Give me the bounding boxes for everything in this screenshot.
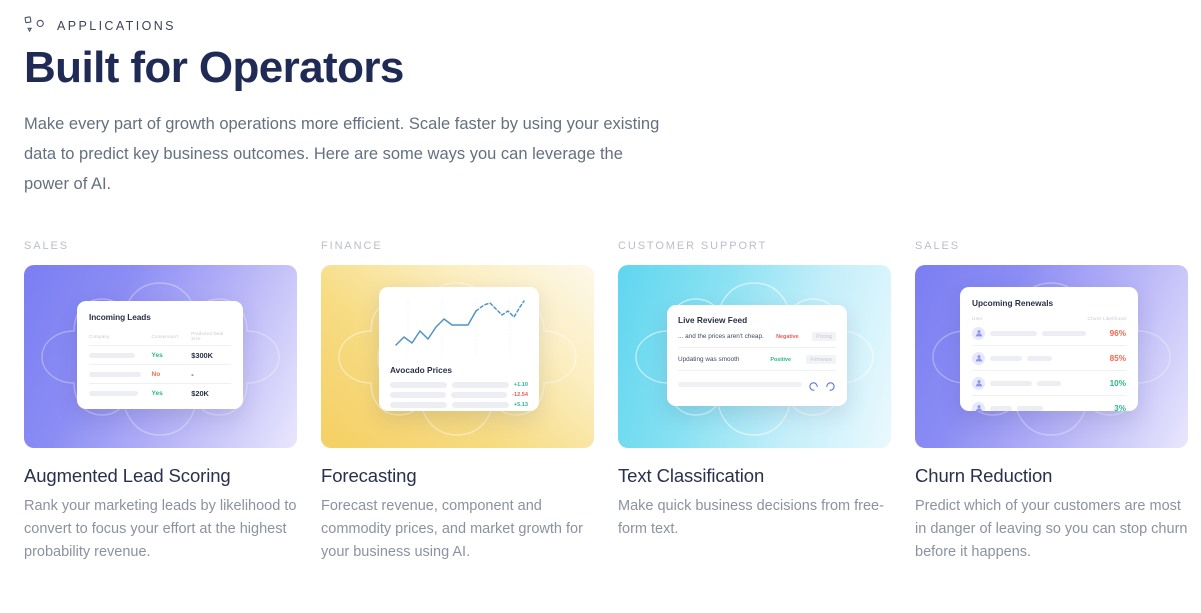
list-item: -12.54 <box>390 392 528 398</box>
topic-badge: Pricing <box>812 332 836 341</box>
churn-value: 85% <box>1110 354 1126 363</box>
company-placeholder <box>89 346 151 365</box>
card-title: Text Classification <box>618 465 891 487</box>
page-title: Built for Operators <box>24 43 1177 92</box>
card-title: Forecasting <box>321 465 594 487</box>
deal-value: - <box>191 365 231 384</box>
avatar <box>972 327 985 340</box>
mock-live-review-feed: Live Review Feed ... and the prices aren… <box>667 305 847 406</box>
card-description: Make quick business decisions from free-… <box>618 495 891 541</box>
page-intro: Make every part of growth operations mor… <box>24 109 664 199</box>
topic-badge: Firmware <box>806 355 836 364</box>
churn-value: 3% <box>1114 404 1126 412</box>
col-user: User <box>972 316 983 321</box>
table-row: Yes $20K <box>89 384 231 403</box>
card-title: Churn Reduction <box>915 465 1188 487</box>
mock-title: Avocado Prices <box>390 365 528 375</box>
card-title: Augmented Lead Scoring <box>24 465 297 487</box>
sentiment-badge: Positive <box>770 357 800 363</box>
delta-value: -12.54 <box>512 392 528 398</box>
review-text: ... and the prices aren't cheap. <box>678 333 770 340</box>
card-category: FINANCE <box>321 240 594 254</box>
card-description: Predict which of your customers are most… <box>915 495 1188 564</box>
mock-incoming-leads: Incoming Leads Company Conversion? Predi… <box>77 301 243 409</box>
col-churn-likelihood: Churn Likelihood <box>1088 316 1126 321</box>
table-row: Yes $300K <box>89 346 231 365</box>
loading-row <box>678 371 836 390</box>
table-row: 10% <box>972 371 1126 396</box>
conversion-value: No <box>151 365 191 384</box>
card-description: Rank your marketing leads by likelihood … <box>24 495 297 564</box>
col-deal-size: Predicted Deal Size <box>191 331 231 346</box>
mock-title: Upcoming Renewals <box>972 298 1126 308</box>
spinner-icon <box>808 379 819 390</box>
review-text: Updating was smooth <box>678 356 764 363</box>
skeleton-bar <box>678 382 802 387</box>
avatar <box>972 377 985 390</box>
forecast-chart <box>390 297 528 359</box>
applications-section: APPLICATIONS Built for Operators Make ev… <box>0 0 1201 613</box>
card-category: CUSTOMER SUPPORT <box>618 240 891 254</box>
section-eyebrow-label: APPLICATIONS <box>57 19 176 33</box>
col-conversion: Conversion? <box>151 331 191 346</box>
conversion-value: Yes <box>151 384 191 403</box>
table-row: 3% <box>972 396 1126 411</box>
application-card-churn-reduction[interactable]: SALES Upcoming Renewals User Churn Likel… <box>915 240 1188 564</box>
churn-value: 10% <box>1110 379 1126 388</box>
delta-value: +5.13 <box>514 402 528 408</box>
table-row: 85% <box>972 346 1126 371</box>
application-card-forecasting[interactable]: FINANCE <box>321 240 594 564</box>
deal-value: $20K <box>191 384 231 403</box>
company-placeholder <box>89 384 151 403</box>
card-thumbnail: Avocado Prices +1.10 -12.54 +5.13 <box>321 265 594 448</box>
review-row: Updating was smooth Positive Firmware <box>678 348 836 371</box>
review-row: ... and the prices aren't cheap. Negativ… <box>678 325 836 348</box>
card-thumbnail: Upcoming Renewals User Churn Likelihood … <box>915 265 1188 448</box>
card-category: SALES <box>24 240 297 254</box>
card-thumbnail: Incoming Leads Company Conversion? Predi… <box>24 265 297 448</box>
shapes-icon <box>24 16 46 36</box>
card-category: SALES <box>915 240 1188 254</box>
card-thumbnail: Live Review Feed ... and the prices aren… <box>618 265 891 448</box>
avatar <box>972 402 985 412</box>
section-eyebrow: APPLICATIONS <box>24 0 1177 28</box>
table-header-row: Company Conversion? Predicted Deal Size <box>89 331 231 346</box>
spinner-icon <box>825 379 836 390</box>
sentiment-badge: Negative <box>776 334 806 340</box>
deal-value: $300K <box>191 346 231 365</box>
application-card-augmented-lead-scoring[interactable]: SALES Incoming Leads Company Conversion? <box>24 240 297 564</box>
card-description: Forecast revenue, component and commodit… <box>321 495 594 564</box>
list-item: +1.10 <box>390 382 528 388</box>
col-company: Company <box>89 331 151 346</box>
mock-upcoming-renewals: Upcoming Renewals User Churn Likelihood … <box>960 287 1138 411</box>
leads-table: Company Conversion? Predicted Deal Size … <box>89 331 231 402</box>
churn-value: 96% <box>1110 329 1126 338</box>
conversion-value: Yes <box>151 346 191 365</box>
application-card-text-classification[interactable]: CUSTOMER SUPPORT Live Review Feed ... an… <box>618 240 891 564</box>
mock-title: Live Review Feed <box>678 315 836 325</box>
mock-avocado-prices: Avocado Prices +1.10 -12.54 +5.13 <box>379 287 539 411</box>
delta-value: +1.10 <box>514 382 528 388</box>
table-row: No - <box>89 365 231 384</box>
table-row: 96% <box>972 321 1126 346</box>
delta-rows: +1.10 -12.54 +5.13 <box>390 382 528 408</box>
company-placeholder <box>89 365 151 384</box>
mock-title: Incoming Leads <box>89 312 231 322</box>
list-item: +5.13 <box>390 402 528 408</box>
avatar <box>972 352 985 365</box>
application-card-list: SALES Incoming Leads Company Conversion? <box>24 240 1177 564</box>
